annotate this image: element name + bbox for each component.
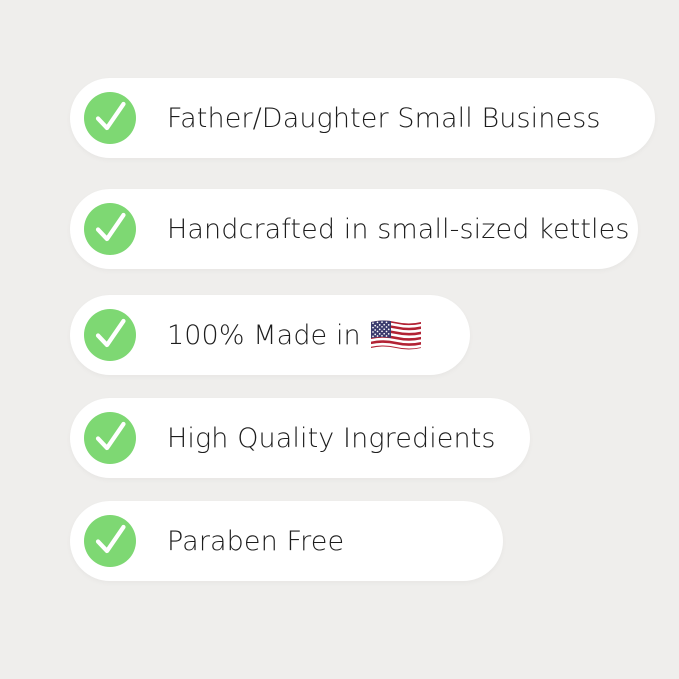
feature-item-handcrafted-small-kettles: Handcrafted in small-sized kettles	[70, 189, 638, 269]
check-circle-icon	[84, 515, 136, 567]
check-circle-icon	[84, 412, 136, 464]
feature-list: Father/Daughter Small Business Handcraft…	[0, 0, 679, 679]
check-circle-icon	[84, 203, 136, 255]
feature-item-text: Father/Daughter Small Business	[167, 105, 601, 132]
feature-item-label: Father/Daughter Small Business	[167, 105, 655, 132]
feature-item-made-in-usa: 100% Made in	[70, 295, 470, 375]
feature-item-label: Paraben Free	[167, 528, 503, 555]
us-flag-icon	[370, 319, 422, 353]
feature-item-text: Paraben Free	[167, 528, 344, 555]
feature-item-text: 100% Made in	[167, 322, 361, 349]
feature-item-label: Handcrafted in small-sized kettles	[167, 216, 654, 243]
feature-item-paraben-free: Paraben Free	[70, 501, 503, 581]
feature-item-high-quality-ingredients: High Quality Ingredients	[70, 398, 530, 478]
feature-item-label: 100% Made in	[167, 318, 470, 352]
feature-item-text: Handcrafted in small-sized kettles	[167, 216, 630, 243]
feature-item-text: High Quality Ingredients	[167, 425, 496, 452]
feature-item-label: High Quality Ingredients	[167, 425, 530, 452]
feature-item-father-daughter-small-business: Father/Daughter Small Business	[70, 78, 655, 158]
check-circle-icon	[84, 309, 136, 361]
check-circle-icon	[84, 92, 136, 144]
